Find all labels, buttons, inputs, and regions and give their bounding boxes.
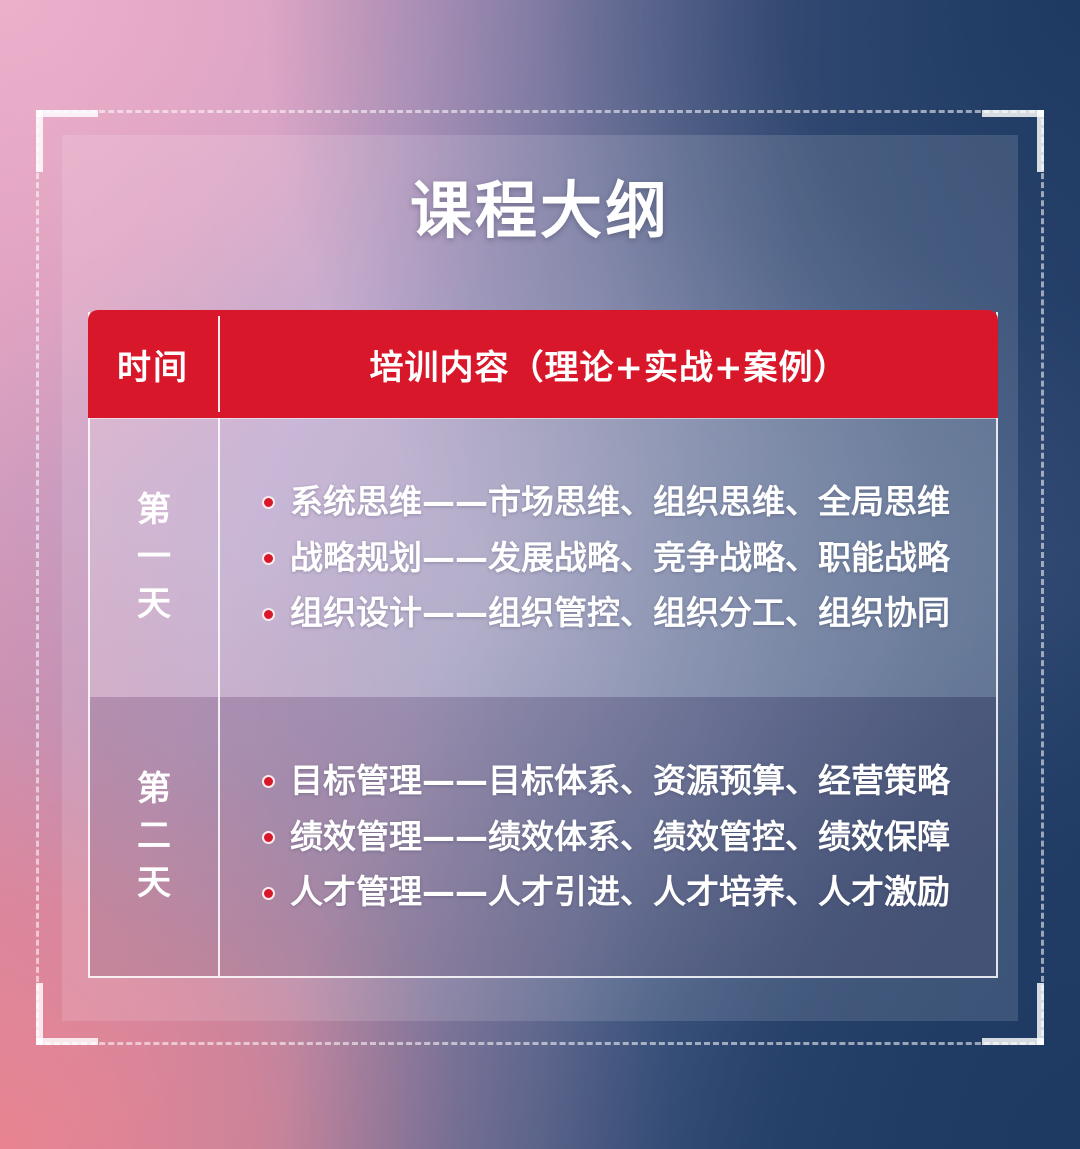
day-label-char: 一 <box>137 534 171 581</box>
bullet-dot-icon <box>262 887 275 900</box>
list-item: 目标管理——目标体系、资源预算、经营策略 <box>262 762 966 800</box>
day-items-cell-2: 目标管理——目标体系、资源预算、经营策略 绩效管理——绩效体系、绩效管控、绩效保… <box>220 697 996 976</box>
poster-canvas: 课程大纲 时间 培训内容（理论+实战+案例） 第 一 天 系统思维——市场思维、… <box>0 0 1080 1149</box>
day-label-char: 第 <box>137 487 171 534</box>
day-label-char: 第 <box>137 766 171 813</box>
day-label-char: 天 <box>137 581 171 628</box>
list-item-text: 绩效管理——绩效体系、绩效管控、绩效保障 <box>290 818 950 856</box>
page-title-wrapper: 课程大纲 <box>0 180 1080 252</box>
bullet-dot-icon <box>262 775 275 788</box>
page-title-text: 课程大纲 <box>410 174 670 247</box>
list-item-text: 系统思维——市场思维、组织思维、全局思维 <box>290 483 950 521</box>
bullet-dot-icon <box>262 552 275 565</box>
table-header-row: 时间 培训内容（理论+实战+案例） <box>88 310 998 418</box>
list-item-text: 战略规划——发展战略、竞争战略、职能战略 <box>290 539 950 577</box>
day-label-char: 天 <box>137 860 171 907</box>
table-row: 第 一 天 系统思维——市场思维、组织思维、全局思维 战略规划——发展战略、竞争… <box>90 418 996 697</box>
list-item-text: 目标管理——目标体系、资源预算、经营策略 <box>290 762 950 800</box>
list-item: 绩效管理——绩效体系、绩效管控、绩效保障 <box>262 818 966 856</box>
table-body: 第 一 天 系统思维——市场思维、组织思维、全局思维 战略规划——发展战略、竞争… <box>90 418 996 976</box>
day-label-cell-2: 第 二 天 <box>90 697 218 976</box>
bullet-dot-icon <box>262 831 275 844</box>
course-outline-table: 时间 培训内容（理论+实战+案例） 第 一 天 系统思维——市场思维、组织思维、… <box>88 312 998 978</box>
list-item: 战略规划——发展战略、竞争战略、职能战略 <box>262 539 966 577</box>
list-item-text: 组织设计——组织管控、组织分工、组织协同 <box>290 594 950 632</box>
day-label-cell-1: 第 一 天 <box>90 418 218 697</box>
table-header-content: 培训内容（理论+实战+案例） <box>220 310 998 418</box>
bullet-dot-icon <box>262 608 275 621</box>
table-header-time: 时间 <box>88 310 218 418</box>
day-items-cell-1: 系统思维——市场思维、组织思维、全局思维 战略规划——发展战略、竞争战略、职能战… <box>220 418 996 697</box>
table-row: 第 二 天 目标管理——目标体系、资源预算、经营策略 绩效管理——绩效体系、绩效… <box>90 697 996 976</box>
list-item-text: 人才管理——人才引进、人才培养、人才激励 <box>290 873 950 911</box>
page-title: 课程大纲 <box>404 180 676 252</box>
bullet-dot-icon <box>262 496 275 509</box>
day-label-char: 二 <box>137 813 171 860</box>
list-item: 组织设计——组织管控、组织分工、组织协同 <box>262 594 966 632</box>
list-item: 系统思维——市场思维、组织思维、全局思维 <box>262 483 966 521</box>
list-item: 人才管理——人才引进、人才培养、人才激励 <box>262 873 966 911</box>
